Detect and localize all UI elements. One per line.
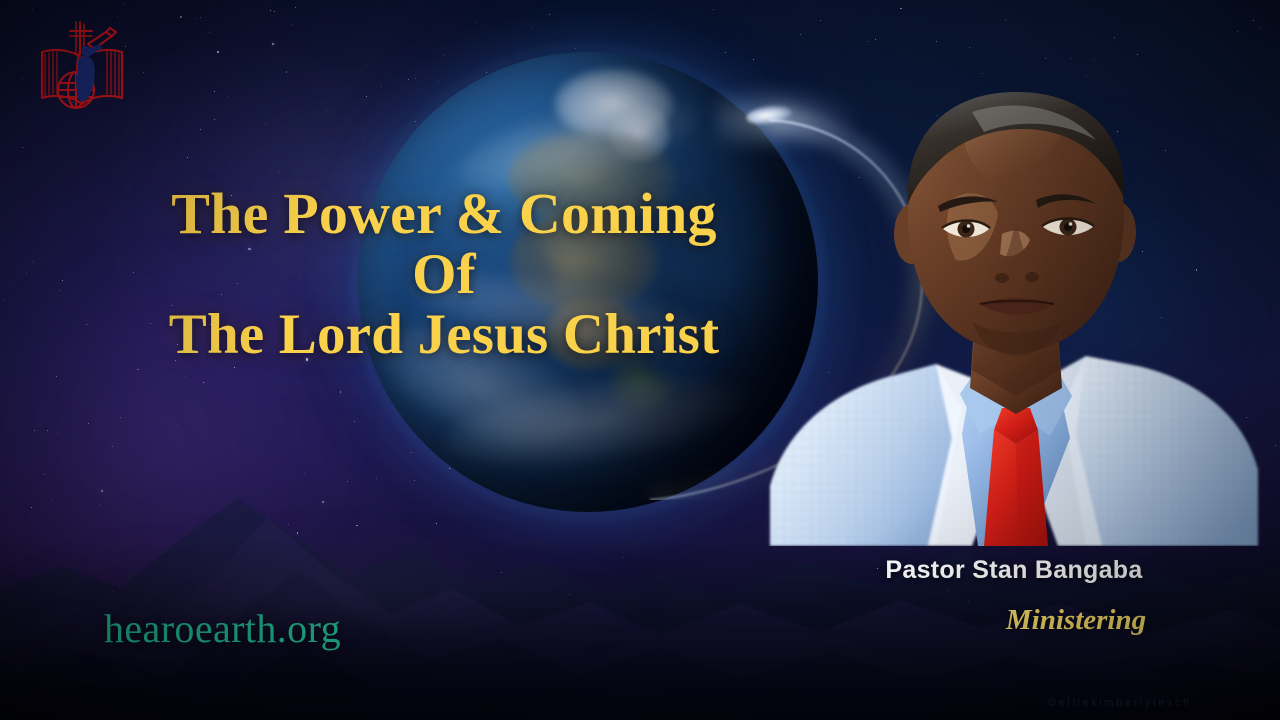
- vignette-overlay: [0, 0, 1280, 720]
- sermon-banner: The Power & Coming Of The Lord Jesus Chr…: [0, 0, 1280, 720]
